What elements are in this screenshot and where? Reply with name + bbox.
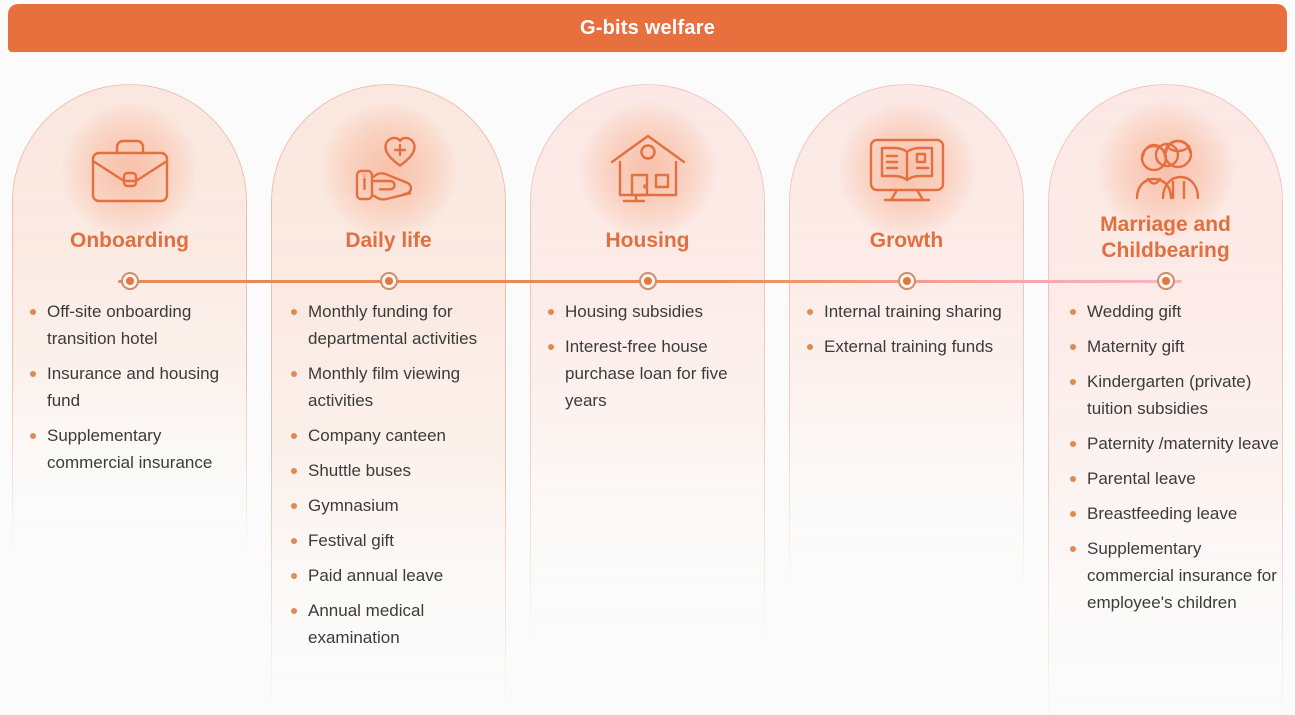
house-icon [596, 118, 700, 222]
list-item: Maternity gift [1066, 333, 1289, 360]
timeline-node-core [644, 277, 652, 285]
briefcase-icon [78, 118, 182, 222]
hand-heart-care-icon [337, 118, 441, 222]
list-item: Gymnasium [287, 492, 504, 519]
timeline-node [1157, 272, 1175, 290]
column-title: Onboarding [0, 228, 259, 254]
list-item: Festival gift [287, 527, 504, 554]
list-item: Company canteen [287, 422, 504, 449]
list-item: Off-site onboarding transition hotel [26, 298, 245, 352]
timeline-node-core [1162, 277, 1170, 285]
list-item: Interest-free house purchase loan for fi… [544, 333, 763, 414]
column-title: Housing [518, 228, 777, 254]
benefit-list: Monthly funding for departmental activit… [287, 298, 504, 659]
header-bar: G-bits welfare [8, 4, 1287, 52]
list-item: Parental leave [1066, 465, 1289, 492]
column-title-line-2: Childbearing [1101, 239, 1229, 262]
list-item: Monthly film viewing activities [287, 360, 504, 414]
list-item: Paternity /maternity leave [1066, 430, 1289, 457]
list-item: Supplementary commercial insurance [26, 422, 245, 476]
column-housing[interactable]: Housing Housing subsidies Interest-free … [518, 62, 777, 715]
timeline-node [898, 272, 916, 290]
infographic-page: G-bits welfare Onboarding Off-site onboa… [0, 0, 1295, 715]
column-title-line-1: Marriage and [1100, 213, 1231, 236]
benefit-list: Wedding gift Maternity gift Kindergarten… [1066, 298, 1289, 624]
benefit-list: Internal training sharing External train… [803, 298, 1022, 368]
monitor-book-learning-icon [855, 118, 959, 222]
column-title: Growth [777, 228, 1036, 254]
list-item: Insurance and housing fund [26, 360, 245, 414]
timeline-node [639, 272, 657, 290]
page-title: G-bits welfare [580, 17, 715, 40]
columns-container: Onboarding Off-site onboarding transitio… [0, 62, 1295, 715]
timeline-node [121, 272, 139, 290]
couple-icon [1114, 118, 1218, 222]
column-marriage-and-childbearing[interactable]: Marriage andChildbearing Wedding gift Ma… [1036, 62, 1295, 715]
list-item: Kindergarten (private) tuition subsidies [1066, 368, 1289, 422]
benefit-list: Housing subsidies Interest-free house pu… [544, 298, 763, 422]
timeline-node-core [903, 277, 911, 285]
list-item: Housing subsidies [544, 298, 763, 325]
timeline-node [380, 272, 398, 290]
list-item: External training funds [803, 333, 1022, 360]
list-item: Annual medical examination [287, 597, 504, 651]
list-item: Wedding gift [1066, 298, 1289, 325]
benefit-list: Off-site onboarding transition hotel Ins… [26, 298, 245, 484]
column-title: Marriage andChildbearing [1036, 212, 1295, 264]
column-onboarding[interactable]: Onboarding Off-site onboarding transitio… [0, 62, 259, 715]
list-item: Monthly funding for departmental activit… [287, 298, 504, 352]
timeline-node-core [385, 277, 393, 285]
list-item: Paid annual leave [287, 562, 504, 589]
list-item: Supplementary commercial insurance for e… [1066, 535, 1289, 616]
timeline-node-core [126, 277, 134, 285]
list-item: Breastfeeding leave [1066, 500, 1289, 527]
column-daily-life[interactable]: Daily life Monthly funding for departmen… [259, 62, 518, 715]
list-item: Internal training sharing [803, 298, 1022, 325]
column-title: Daily life [259, 228, 518, 254]
list-item: Shuttle buses [287, 457, 504, 484]
column-growth[interactable]: Growth Internal training sharing Externa… [777, 62, 1036, 715]
